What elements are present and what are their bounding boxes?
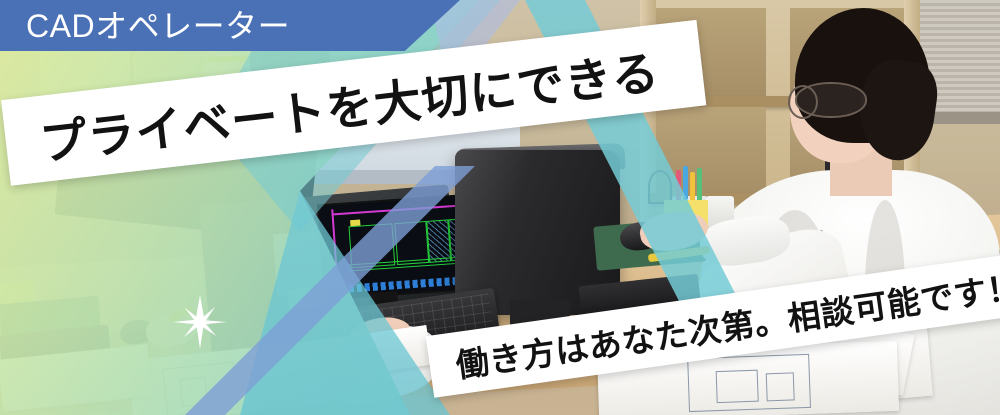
pen xyxy=(683,166,688,200)
blueprint-outline xyxy=(179,377,208,408)
page-title: CADオペレーター xyxy=(26,10,290,42)
recruit-banner: CADオペレーター プライベートを大切にできる 働き方はあなた次第。相談可能です… xyxy=(0,0,1000,415)
pen xyxy=(697,168,702,202)
blueprint-outline xyxy=(766,372,795,401)
scissors-icon xyxy=(648,170,672,204)
cad-axis-line xyxy=(331,209,338,293)
category-header-band: CADオペレーター xyxy=(0,0,460,51)
shelf-compartment xyxy=(656,107,766,193)
cad-marker xyxy=(350,220,360,227)
pen xyxy=(676,170,681,204)
blueprint-outline xyxy=(716,370,759,403)
eyeglasses-lens xyxy=(788,85,818,119)
cad-hatched-shape xyxy=(426,219,451,262)
